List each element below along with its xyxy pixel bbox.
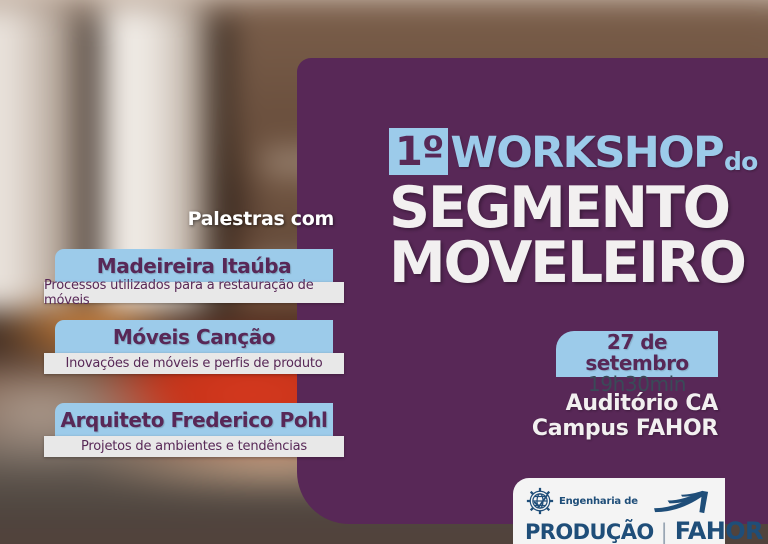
headline-line-workshop: 1º WORKSHOP do xyxy=(389,128,759,175)
headline-block: 1º WORKSHOP do SEGMENTO MOVELEIRO xyxy=(389,128,759,290)
logo-row-bottom: PRODUÇÃO | FAHOR xyxy=(525,517,715,544)
speaker-topic-1: Processos utilizados para a restauração … xyxy=(44,282,344,303)
fahor-label: FAHOR xyxy=(675,517,763,544)
event-venue-line-2: Campus FAHOR xyxy=(400,417,718,442)
gear-globe-icon xyxy=(525,486,555,516)
logo-row-top: Engenharia de xyxy=(525,486,715,516)
fahor-swoosh-icon xyxy=(651,487,715,515)
event-venue: Auditório CA Campus FAHOR xyxy=(400,392,718,441)
speaker-topic-3: Projetos de ambientes e tendências xyxy=(44,436,344,457)
headline-line-2: MOVELEIRO xyxy=(389,236,759,291)
speaker-name-3: Arquiteto Frederico Pohl xyxy=(55,403,333,436)
event-venue-line-1: Auditório CA xyxy=(400,392,718,417)
producao-label: PRODUÇÃO xyxy=(525,520,654,544)
speakers-label: Palestras com xyxy=(44,208,334,230)
event-date-box: 27 de setembro 19h30min xyxy=(556,331,718,377)
speaker-name-2: Móveis Canção xyxy=(55,320,333,353)
headline-workshop: WORKSHOP xyxy=(450,132,723,175)
poster-canvas: 1º WORKSHOP do SEGMENTO MOVELEIRO 27 de … xyxy=(0,0,768,544)
speaker-topic-2: Inovações de móveis e perfis de produto xyxy=(44,353,344,374)
headline-connector: do xyxy=(724,149,757,174)
ordinal-badge: 1º xyxy=(389,128,448,175)
event-date: 27 de setembro xyxy=(556,332,718,374)
headline-line-1: SEGMENTO xyxy=(389,181,759,236)
logo-box: Engenharia de PRODUÇÃO | FAHOR xyxy=(513,478,725,544)
engenharia-label: Engenharia de xyxy=(559,496,638,507)
logo-divider: | xyxy=(661,520,668,544)
